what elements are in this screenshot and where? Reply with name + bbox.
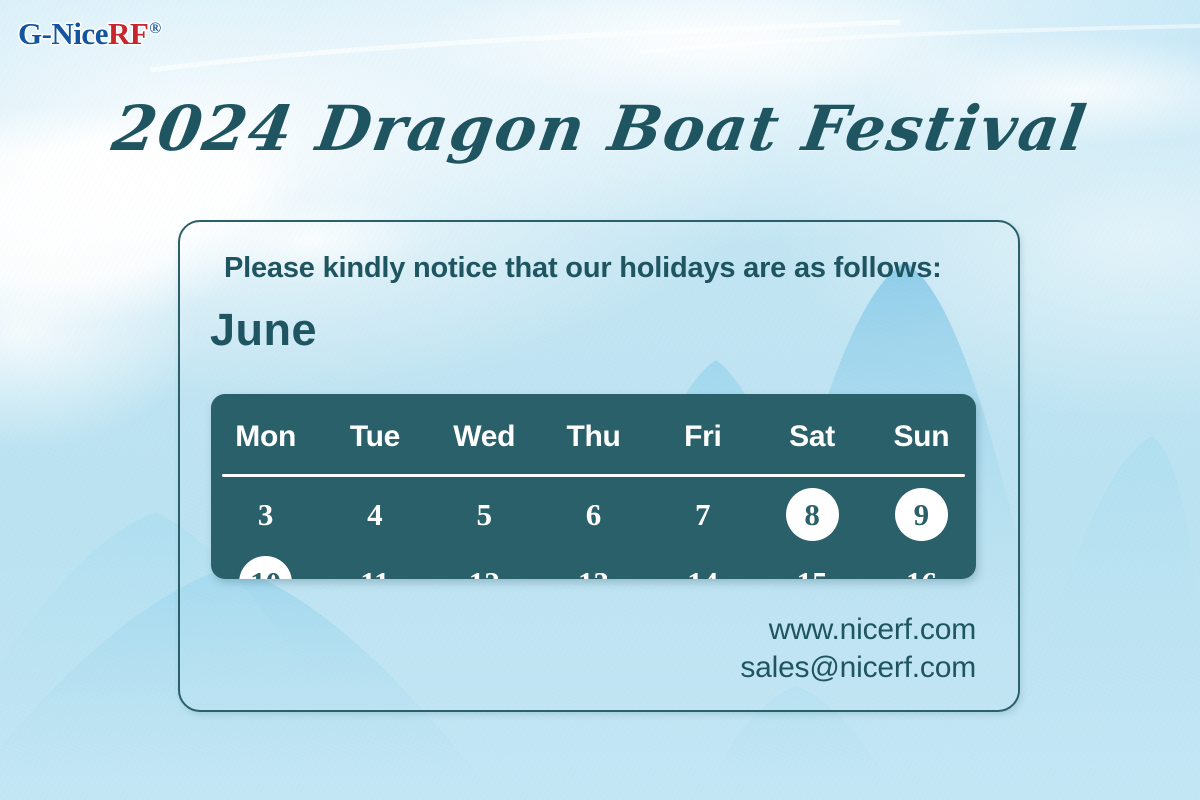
day-number: 6	[586, 499, 602, 530]
weekday-header-mon: Mon	[211, 406, 320, 468]
calendar-day[interactable]: 3	[211, 483, 320, 545]
calendar-day-holiday[interactable]: 10	[211, 551, 320, 579]
day-number: 15	[797, 567, 828, 580]
registered-trademark-icon: ®	[149, 20, 160, 37]
brand-name-suffix: RF	[108, 16, 148, 51]
brand-logo: G-NiceRF®	[18, 16, 161, 52]
brand-name-prefix: G-Nice	[18, 16, 108, 51]
calendar-day[interactable]: 16	[867, 551, 976, 579]
calendar-day[interactable]: 15	[757, 551, 866, 579]
weekday-header-tue: Tue	[320, 406, 429, 468]
day-number: 3	[258, 499, 274, 530]
weekday-header-fri: Fri	[648, 406, 757, 468]
weekday-header-wed: Wed	[430, 406, 539, 468]
calendar-week-row: 10111213141516	[211, 551, 976, 579]
month-heading: June	[210, 304, 317, 356]
page-title: 2024 Dragon Boat Festival	[0, 92, 1200, 165]
calendar-day[interactable]: 13	[539, 551, 648, 579]
calendar-body: 345678910111213141516	[211, 483, 976, 579]
calendar-day[interactable]: 5	[430, 483, 539, 545]
day-number: 16	[906, 567, 937, 580]
calendar-panel: MonTueWedThuFriSatSun 345678910111213141…	[211, 394, 976, 579]
website-link[interactable]: www.nicerf.com	[740, 611, 976, 649]
calendar-header-row: MonTueWedThuFriSatSun	[211, 394, 976, 468]
day-number: 10	[250, 567, 281, 580]
day-number: 13	[578, 567, 609, 580]
day-number: 8	[804, 499, 820, 530]
email-link[interactable]: sales@nicerf.com	[740, 649, 976, 687]
day-number: 5	[476, 499, 492, 530]
day-number: 12	[469, 567, 500, 580]
notice-text: Please kindly notice that our holidays a…	[224, 252, 942, 285]
calendar-day[interactable]: 14	[648, 551, 757, 579]
poster-root: G-NiceRF® 2024 Dragon Boat Festival Plea…	[0, 0, 1200, 800]
weekday-header-thu: Thu	[539, 406, 648, 468]
holiday-notice-card: Please kindly notice that our holidays a…	[178, 220, 1020, 712]
calendar-week-row: 3456789	[211, 483, 976, 545]
calendar-day[interactable]: 12	[430, 551, 539, 579]
weekday-header-sun: Sun	[867, 406, 976, 468]
contact-block: www.nicerf.com sales@nicerf.com	[740, 611, 976, 686]
day-number: 9	[914, 499, 930, 530]
weekday-header-sat: Sat	[757, 406, 866, 468]
day-number: 14	[687, 567, 718, 580]
calendar-day[interactable]: 4	[320, 483, 429, 545]
day-number: 4	[367, 499, 383, 530]
calendar-day[interactable]: 6	[539, 483, 648, 545]
calendar-day[interactable]: 7	[648, 483, 757, 545]
calendar-day-holiday[interactable]: 8	[757, 483, 866, 545]
day-number: 11	[360, 567, 389, 580]
calendar-day[interactable]: 11	[320, 551, 429, 579]
day-number: 7	[695, 499, 711, 530]
calendar-day-holiday[interactable]: 9	[867, 483, 976, 545]
calendar-divider	[222, 474, 965, 477]
